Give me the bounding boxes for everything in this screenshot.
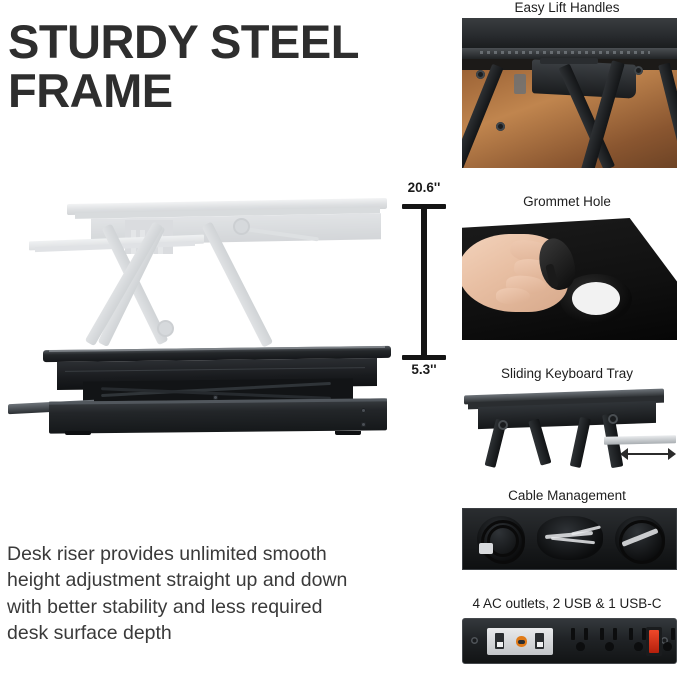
feature-caption-power-outlets: 4 AC outlets, 2 USB & 1 USB-C	[455, 596, 679, 611]
height-range-measurement: 20.6'' 5.3''	[400, 180, 448, 380]
base-screw	[361, 422, 366, 427]
feature-caption-cable-management: Cable Management	[455, 488, 679, 503]
ac-outlet	[594, 628, 624, 655]
outlet-ground	[634, 642, 643, 651]
riser-lowered-position	[5, 338, 400, 443]
arrow-head-right	[668, 448, 676, 460]
measure-cap-bottom	[402, 355, 446, 360]
desk-underside	[462, 18, 677, 50]
frame-bolt	[634, 66, 643, 75]
feature-caption-easy-lift-handles: Easy Lift Handles	[455, 0, 679, 15]
power-switch[interactable]	[646, 627, 662, 656]
feature-panel-column: Easy Lift Handles Grommet Hole	[455, 0, 679, 675]
outlet-slot	[584, 628, 588, 640]
max-height-label: 20.6''	[394, 180, 454, 195]
ghost-pivot-point	[233, 218, 250, 235]
pivot-point	[608, 414, 618, 424]
frame-bolt	[496, 122, 505, 131]
outlet-slot	[629, 628, 633, 640]
sliding-keyboard-tray-rail	[604, 435, 676, 445]
ac-outlet	[565, 628, 595, 655]
grommet-hole-opening	[572, 282, 620, 315]
base-foot	[335, 431, 361, 435]
outlet-slot	[600, 628, 604, 640]
little-finger	[496, 288, 530, 304]
feature-image-sliding-keyboard-tray	[462, 384, 677, 476]
feature-image-grommet-hole	[462, 212, 677, 340]
base-foot	[65, 431, 91, 435]
product-side-view-illustration	[5, 190, 400, 440]
cable-plug	[479, 543, 493, 554]
outlet-slot	[571, 628, 575, 640]
product-description: Desk riser provides unlimited smooth hei…	[7, 541, 367, 646]
usb-a-port	[535, 633, 544, 649]
feature-image-cable-management	[462, 508, 677, 570]
feature-image-power-strip	[462, 618, 677, 664]
handle-release-nub	[514, 74, 526, 94]
mechanism-screw	[213, 395, 218, 400]
slide-direction-arrow-icon	[620, 446, 676, 462]
usb-c-port	[516, 636, 527, 647]
feature-caption-grommet-hole: Grommet Hole	[455, 194, 679, 209]
arrow-shaft	[626, 453, 670, 455]
left-column: STURDY STEEL FRAME	[0, 0, 455, 675]
usb-port-panel	[487, 628, 553, 655]
base-screw	[361, 408, 366, 413]
page-title: STURDY STEEL FRAME	[8, 18, 428, 116]
outlet-slot	[671, 628, 675, 640]
pivot-point	[498, 420, 508, 430]
feature-image-easy-lift-handles	[462, 18, 677, 168]
mounting-screw	[471, 637, 478, 644]
outlet-slot	[613, 628, 617, 640]
ghost-pivot-point	[157, 320, 174, 337]
edge-texture	[480, 51, 650, 54]
usb-a-port	[495, 633, 504, 649]
feature-caption-sliding-keyboard-tray: Sliding Keyboard Tray	[455, 366, 679, 381]
outlet-ground	[605, 642, 614, 651]
product-infographic: STURDY STEEL FRAME	[0, 0, 679, 675]
outlet-ground	[663, 642, 672, 651]
outlet-ground	[576, 642, 585, 651]
measure-stem	[421, 204, 427, 360]
frame-bolt	[476, 70, 485, 79]
min-height-label: 5.3''	[394, 362, 454, 377]
